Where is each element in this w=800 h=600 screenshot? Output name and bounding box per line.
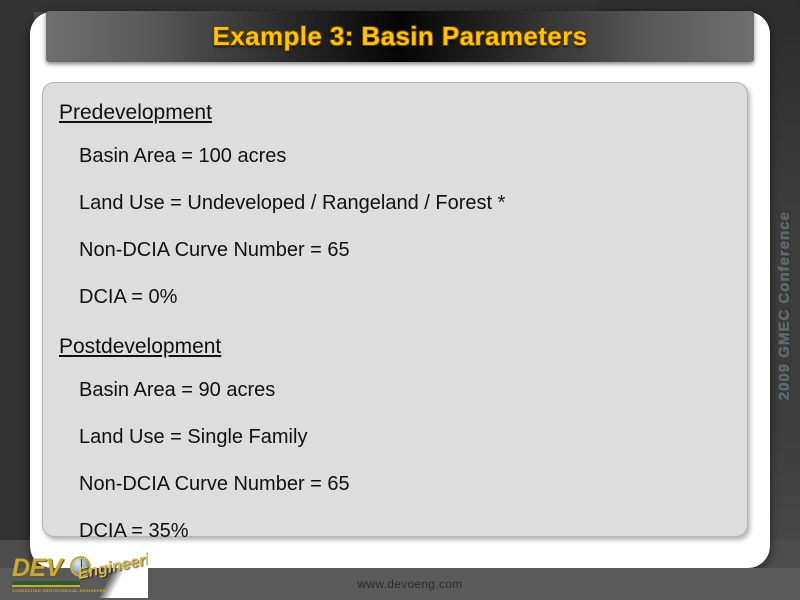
list-item: DCIA = 0% — [43, 274, 747, 321]
logo-rule-gold — [12, 585, 80, 587]
list-item: Basin Area = 90 acres — [43, 367, 747, 414]
footer-website: www.devoeng.com — [337, 577, 462, 591]
section-predevelopment: Predevelopment Basin Area = 100 acres La… — [43, 93, 747, 321]
content-panel: Predevelopment Basin Area = 100 acres La… — [42, 82, 748, 537]
list-item: Non-DCIA Curve Number = 65 — [43, 227, 747, 274]
title-bar: Example 3: Basin Parameters — [46, 11, 754, 62]
section-heading-postdevelopment: Postdevelopment — [43, 327, 221, 367]
logo-wordmark: DEV — [12, 554, 62, 583]
slide-canvas: Example 3: Basin Parameters Predevelopme… — [0, 0, 800, 600]
list-item: Basin Area = 100 acres — [43, 133, 747, 180]
section-postdevelopment: Postdevelopment Basin Area = 90 acres La… — [43, 327, 747, 600]
page-title: Example 3: Basin Parameters — [213, 21, 588, 52]
section-heading-predevelopment: Predevelopment — [43, 93, 212, 133]
list-item: Land Use = Undeveloped / Rangeland / For… — [43, 180, 747, 227]
logo-tagline: CONSULTING GEOTECHNICAL ENGINEERS — [12, 588, 106, 593]
list-item: Non-DCIA Curve Number = 65 — [43, 461, 747, 508]
background-left-band — [0, 0, 34, 568]
list-item: DCIA = 35% — [43, 508, 747, 555]
devo-engineering-logo: DEV Engineering CONSULTING GEOTECHNICAL … — [8, 552, 148, 598]
list-item: Land Use = Single Family — [43, 414, 747, 461]
